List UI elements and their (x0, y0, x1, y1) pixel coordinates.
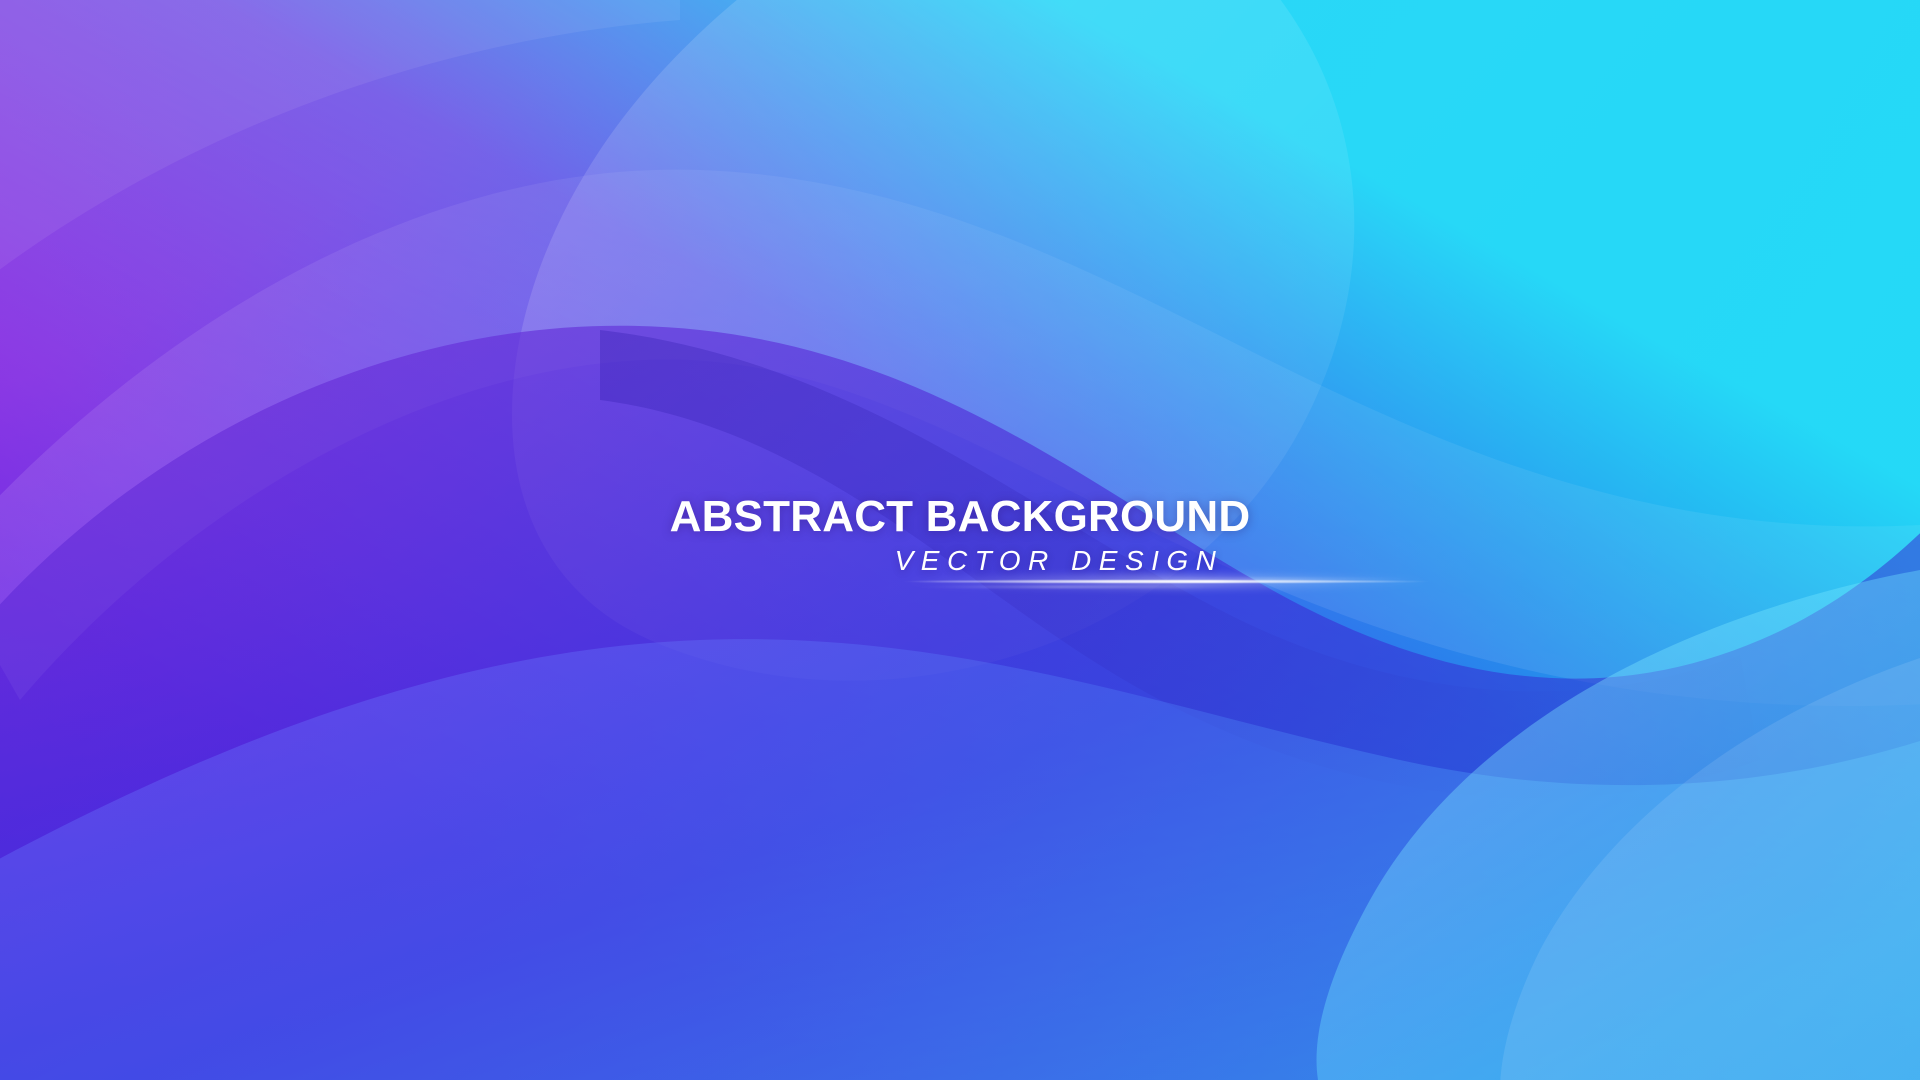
artboard-stage: ABSTRACT BACKGROUND VECTOR DESIGN (0, 0, 1920, 1080)
abstract-background-artwork (0, 0, 1920, 1080)
